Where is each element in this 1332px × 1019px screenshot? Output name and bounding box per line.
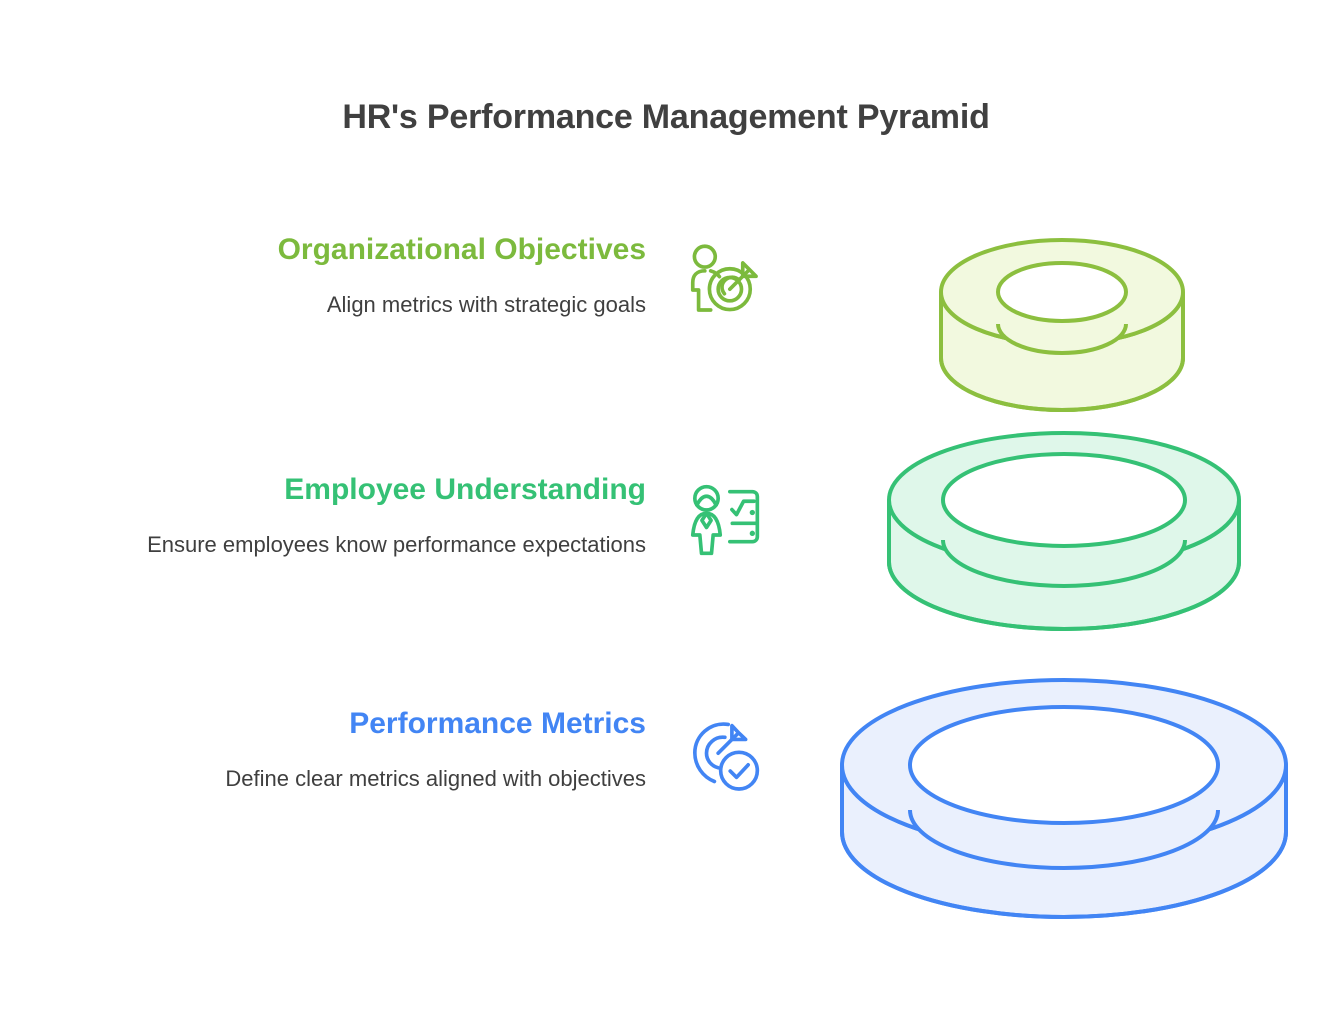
level-row-performance-metrics: Performance Metrics Define clear metrics… (40, 706, 800, 802)
ring-performance-metrics (842, 680, 1286, 917)
level-heading: Organizational Objectives (40, 232, 646, 267)
target-check-icon (684, 706, 764, 802)
level-description: Align metrics with strategic goals (40, 289, 646, 320)
infographic-canvas: HR's Performance Management Pyramid Orga… (0, 0, 1332, 1019)
level-icon-wrapper (646, 232, 764, 328)
level-text-block: Organizational Objectives Align metrics … (40, 232, 646, 321)
rings-svg (800, 210, 1320, 950)
level-heading: Performance Metrics (40, 706, 646, 741)
stacked-rings-diagram (800, 210, 1320, 950)
level-description: Ensure employees know performance expect… (40, 529, 646, 560)
level-row-employee-understanding: Employee Understanding Ensure employees … (40, 472, 800, 568)
person-math-board-icon (684, 472, 764, 568)
level-icon-wrapper (646, 472, 764, 568)
page-title: HR's Performance Management Pyramid (0, 98, 1332, 137)
level-heading: Employee Understanding (40, 472, 646, 507)
ring-organizational-objectives (941, 240, 1183, 410)
level-text-block: Employee Understanding Ensure employees … (40, 472, 646, 561)
person-target-icon (684, 232, 764, 328)
ring-employee-understanding (889, 433, 1239, 629)
level-text-block: Performance Metrics Define clear metrics… (40, 706, 646, 795)
level-icon-wrapper (646, 706, 764, 802)
level-description: Define clear metrics aligned with object… (40, 763, 646, 794)
level-row-organizational-objectives: Organizational Objectives Align metrics … (40, 232, 800, 328)
